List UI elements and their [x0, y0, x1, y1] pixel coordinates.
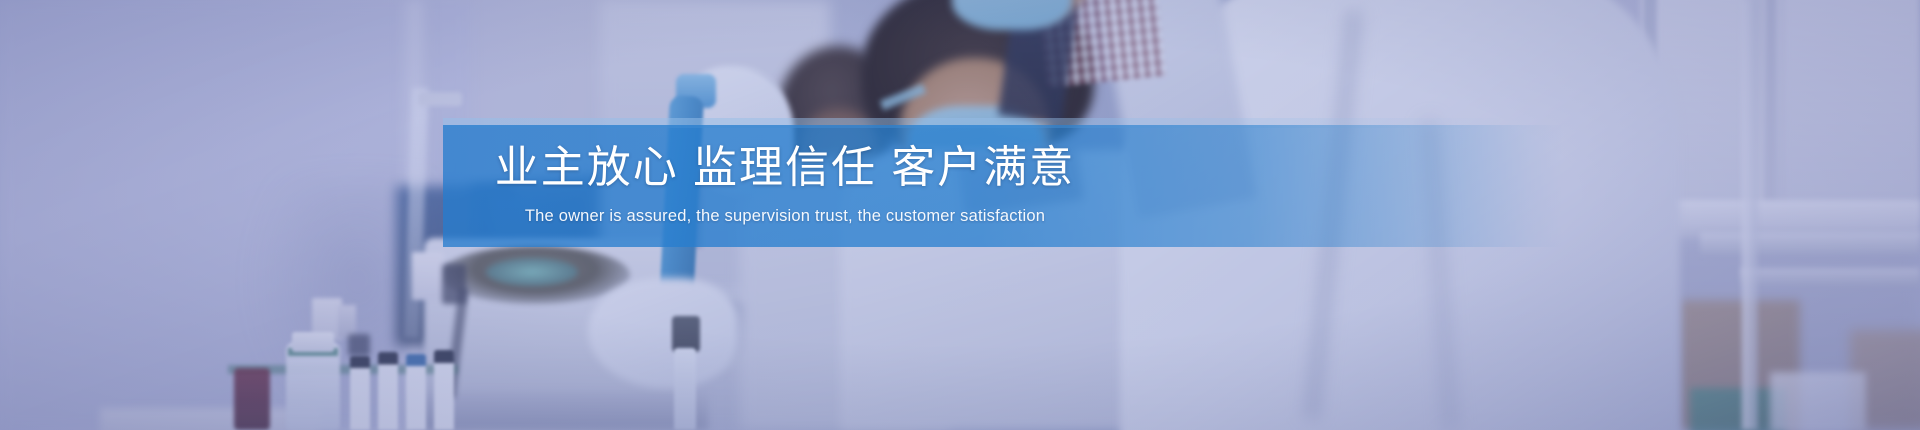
bottle-cap — [292, 332, 334, 352]
window-mullion-right — [1766, 0, 1776, 230]
centrifuge-rotor — [486, 258, 578, 286]
shield-clip — [418, 92, 462, 106]
pipette-collar — [672, 316, 700, 352]
vial-3 — [406, 354, 426, 430]
window-pane-right — [1786, 0, 1916, 206]
power-outlet-lower — [412, 252, 444, 300]
shelf-lower — [1740, 268, 1920, 286]
white-box — [1770, 372, 1866, 430]
gloved-hand-lower — [588, 278, 738, 388]
hero-banner: 业主放心 监理信任 客户满意 The owner is assured, the… — [0, 0, 1920, 430]
vertical-pole — [1742, 0, 1758, 430]
vial-1 — [350, 356, 370, 430]
banner-copy-block: 业主放心 监理信任 客户满意 The owner is assured, the… — [0, 140, 1570, 228]
banner-headline: 业主放心 监理信任 客户满意 — [0, 140, 1570, 196]
pipette-tip — [674, 348, 696, 430]
dark-reagent-bottle — [234, 368, 270, 430]
vial-4 — [434, 350, 454, 430]
vial-rack — [228, 300, 458, 430]
shelf-upper — [1700, 232, 1920, 254]
banner-subheadline: The owner is assured, the supervision tr… — [0, 204, 1570, 228]
vial-2 — [378, 352, 398, 430]
